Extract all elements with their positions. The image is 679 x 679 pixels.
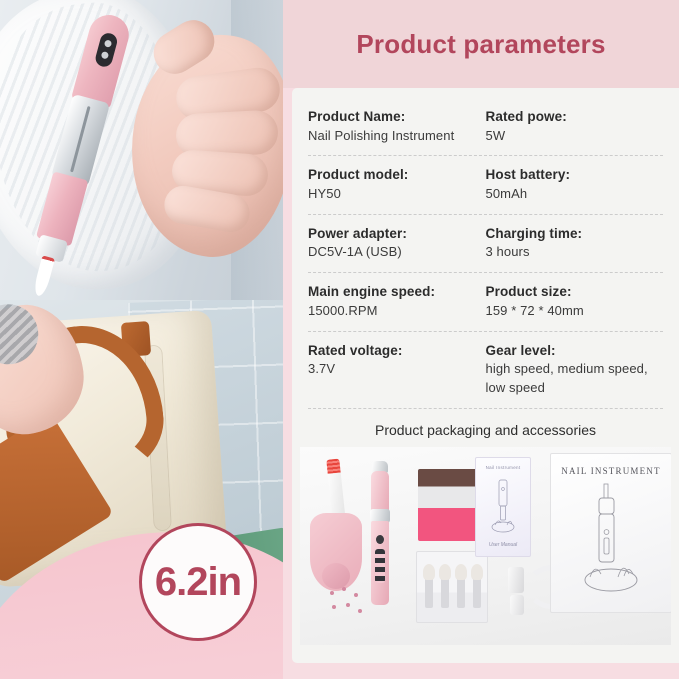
param-cell: Charging time: 3 hours — [486, 224, 664, 262]
param-value: 50mAh — [486, 185, 656, 204]
param-label: Product model: — [308, 165, 478, 185]
size-badge: 6.2in — [139, 523, 257, 641]
table-row: Power adapter: DC5V-1A (USB) Charging ti… — [308, 215, 663, 273]
panel-header: Product parameters — [283, 0, 679, 88]
param-value: 3 hours — [486, 243, 656, 262]
studio-scene-top — [0, 0, 283, 340]
spec-card: Product Name: Nail Polishing Instrument … — [292, 88, 679, 663]
manual-title-text: Nail Instrument — [486, 465, 521, 470]
parameters-table: Product Name: Nail Polishing Instrument … — [292, 88, 679, 409]
page-title: Product parameters — [356, 29, 605, 60]
param-value: 5W — [486, 127, 656, 146]
manual-subtitle-text: User Manual — [489, 542, 517, 548]
param-value: HY50 — [308, 185, 478, 204]
accessories-photo: Nail Instrument User Manual — [300, 447, 671, 645]
table-row: Rated voltage: 3.7V Gear level: high spe… — [308, 332, 663, 409]
param-label: Product size: — [486, 282, 656, 302]
accessory-pink-stand — [310, 513, 362, 591]
param-label: Power adapter: — [308, 224, 478, 244]
pen-upper-body — [371, 471, 389, 511]
param-cell: Product model: HY50 — [308, 165, 486, 203]
param-cell: Product size: 159 * 72 * 40mm — [486, 282, 664, 320]
accessory-drill-bit-set-ceramic — [416, 551, 488, 623]
left-product-photo-column: 6.2in — [0, 0, 283, 679]
bag-chain-detail — [0, 300, 42, 368]
packaging-section-title: Product packaging and accessories — [292, 409, 679, 447]
panel-footer-band — [283, 663, 679, 679]
param-cell: Host battery: 50mAh — [486, 165, 664, 203]
param-label: Gear level: — [486, 341, 656, 361]
table-row: Product Name: Nail Polishing Instrument … — [308, 98, 663, 156]
param-cell: Gear level: high speed, medium speed, lo… — [486, 341, 664, 398]
param-cell: Power adapter: DC5V-1A (USB) — [308, 224, 486, 262]
spec-panel: Product parameters Product Name: Nail Po… — [283, 0, 679, 679]
manual-device-illustration — [490, 477, 516, 535]
param-value: 159 * 72 * 40mm — [486, 302, 656, 321]
size-badge-label: 6.2in — [155, 560, 241, 605]
param-cell: Main engine speed: 15000.RPM — [308, 282, 486, 320]
param-label: Product Name: — [308, 107, 478, 127]
param-value: 3.7V — [308, 360, 478, 379]
pen-display-screen — [94, 31, 119, 68]
param-label: Main engine speed: — [308, 282, 478, 302]
param-value: high speed, medium speed, low speed — [486, 360, 656, 398]
param-value: 15000.RPM — [308, 302, 478, 321]
param-label: Rated powe: — [486, 107, 656, 127]
box-title-text: NAIL INSTRUMENT — [561, 466, 660, 476]
accessory-nail-drill-pen — [370, 461, 390, 605]
param-value: Nail Polishing Instrument — [308, 127, 478, 146]
param-cell: Product Name: Nail Polishing Instrument — [308, 107, 486, 145]
param-label: Rated voltage: — [308, 341, 478, 361]
table-row: Main engine speed: 15000.RPM Product siz… — [308, 273, 663, 331]
box-device-illustration — [580, 480, 642, 600]
param-cell: Rated voltage: 3.7V — [308, 341, 486, 398]
pen-control-buttons — [375, 549, 385, 583]
usb-connector-b — [510, 595, 524, 615]
table-row: Product model: HY50 Host battery: 50mAh — [308, 156, 663, 214]
param-label: Host battery: — [486, 165, 656, 185]
param-value: DC5V-1A (USB) — [308, 243, 478, 262]
pen-screen — [376, 535, 384, 544]
accessory-user-manual: Nail Instrument User Manual — [475, 457, 531, 557]
param-cell: Rated powe: 5W — [486, 107, 664, 145]
usb-connector-a — [508, 567, 524, 593]
accessory-retail-box: NAIL INSTRUMENT — [550, 453, 671, 613]
param-label: Charging time: — [486, 224, 656, 244]
product-parameters-page: 6.2in Product parameters Product Name: N… — [0, 0, 679, 679]
